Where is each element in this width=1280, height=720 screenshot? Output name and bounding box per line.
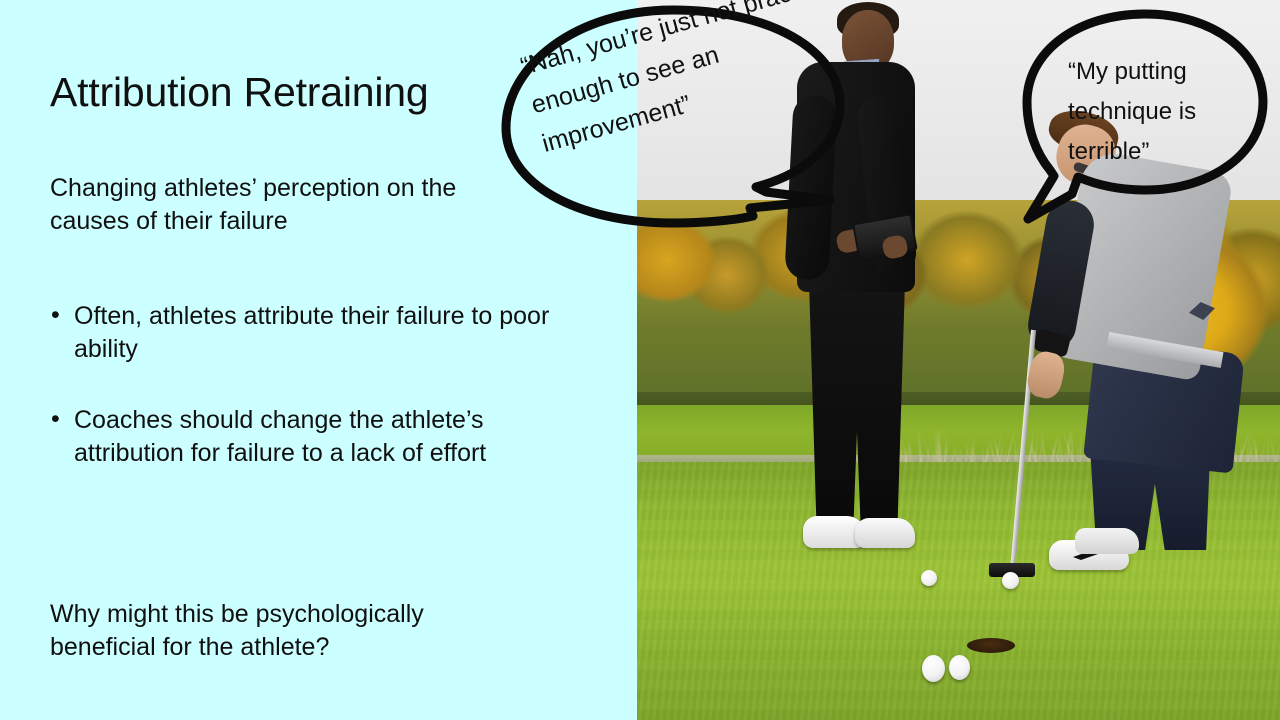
slide-canvas: Attribution Retraining Changing athletes… [0, 0, 1280, 720]
golfer-shoe-left [1075, 528, 1139, 554]
closing-question: Why might this be psychologically benefi… [50, 598, 530, 664]
intro-paragraph: Changing athletes’ perception on the cau… [50, 172, 480, 238]
speech-bubble-athlete-text: “My putting technique is terrible” [1068, 52, 1233, 172]
list-item-label: Often, athletes attribute their failure … [74, 302, 549, 363]
golf-ball [922, 655, 945, 682]
bullet-marker-icon: • [51, 299, 60, 332]
golf-hole [967, 638, 1015, 653]
list-item: • Often, athletes attribute their failur… [48, 300, 568, 366]
list-item: • Coaches should change the athlete’s at… [48, 404, 568, 470]
bullet-marker-icon: • [51, 403, 60, 436]
golf-ball [1002, 572, 1019, 589]
bullet-list: • Often, athletes attribute their failur… [48, 300, 568, 508]
list-item-label: Coaches should change the athlete’s attr… [74, 406, 486, 467]
golf-ball [949, 655, 970, 680]
golf-ball [921, 570, 937, 586]
coach-shoe-right [855, 518, 915, 548]
